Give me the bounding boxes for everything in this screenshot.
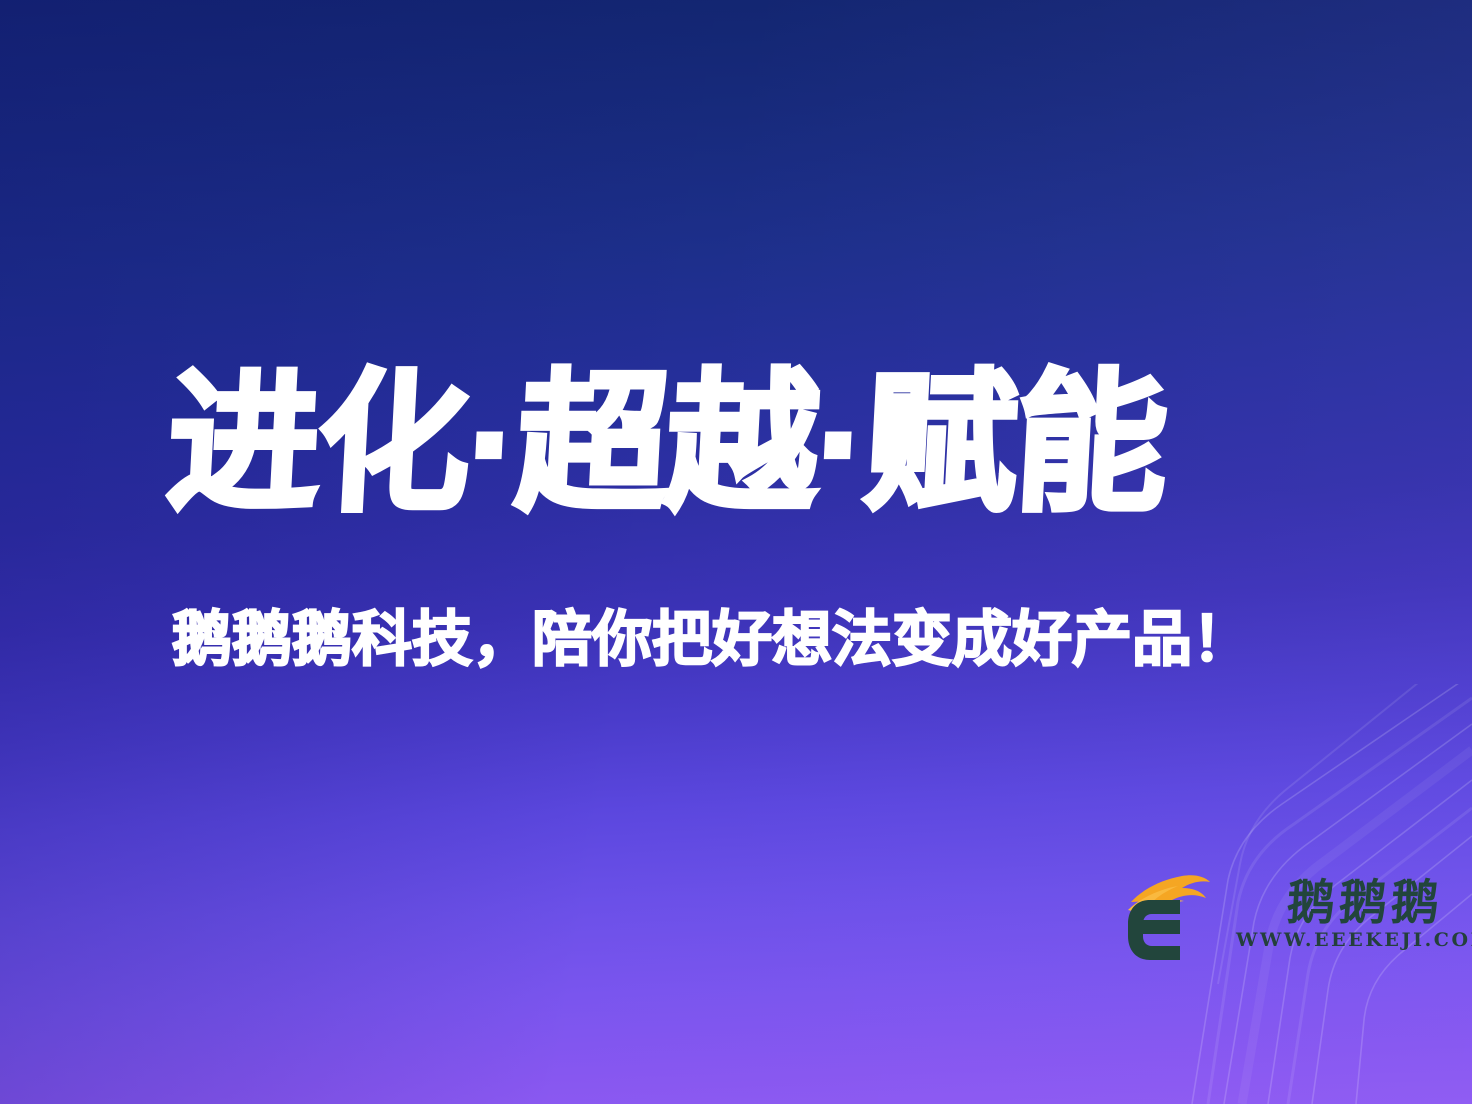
page-subtitle: 鹅鹅鹅科技，陪你把好想法变成好产品！ <box>172 608 1302 671</box>
e-flame-logo-icon <box>1120 862 1218 966</box>
brand-logo: 鹅鹅鹅 WWW.EEEKEJI.COM <box>1120 862 1472 966</box>
brand-url: WWW.EEEKEJI.COM <box>1236 931 1472 950</box>
brand-wordmark: 鹅鹅鹅 <box>1285 879 1444 927</box>
promo-poster: 进化·超越·赋能 鹅鹅鹅科技，陪你把好想法变成好产品！ 鹅鹅鹅 WWW.EEEK… <box>0 0 1472 1104</box>
brand-wordmark-group: 鹅鹅鹅 WWW.EEEKEJI.COM <box>1236 879 1472 950</box>
page-title: 进化·超越·赋能 <box>164 368 1292 520</box>
